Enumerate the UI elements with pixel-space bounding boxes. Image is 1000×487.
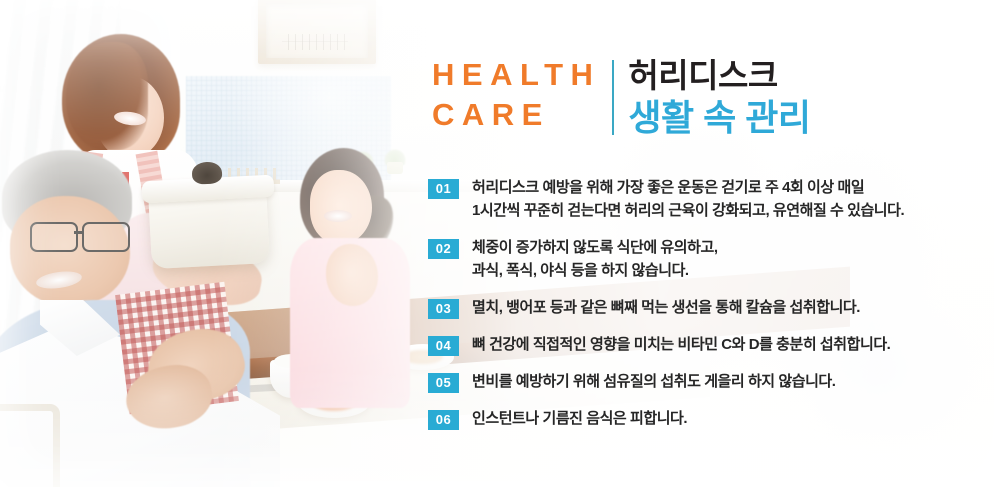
- page-title: HEALTH CARE 허리디스크 생활 속 관리: [432, 55, 811, 139]
- list-item: 04 뼈 건강에 직접적인 영향을 미치는 비타민 C와 D를 충분히 섭취합니…: [428, 333, 973, 356]
- list-item: 05 변비를 예방하기 위해 섬유질의 섭취도 게을리 하지 않습니다.: [428, 370, 973, 393]
- item-number-badge: 01: [428, 179, 459, 199]
- eyebrow-line-1: HEALTH: [432, 55, 600, 95]
- item-text: 체중이 증가하지 않도록 식단에 유의하고, 과식, 폭식, 야식 등을 하지 …: [472, 236, 718, 282]
- list-item: 01 허리디스크 예방을 위해 가장 좋은 운동은 걷기로 주 4회 이상 매일…: [428, 176, 973, 222]
- title-korean: 허리디스크 생활 속 관리: [614, 55, 810, 139]
- item-number-badge: 02: [428, 239, 459, 259]
- list-item: 03 멸치, 뱅어포 등과 같은 뼈째 먹는 생선을 통해 칼슘을 섭취합니다.: [428, 296, 973, 319]
- item-number-badge: 03: [428, 299, 459, 319]
- item-number-badge: 04: [428, 336, 459, 356]
- item-text: 멸치, 뱅어포 등과 같은 뼈째 먹는 생선을 통해 칼슘을 섭취합니다.: [472, 296, 860, 319]
- list-item: 02 체중이 증가하지 않도록 식단에 유의하고, 과식, 폭식, 야식 등을 …: [428, 236, 973, 282]
- content-layer: HEALTH CARE 허리디스크 생활 속 관리 01 허리디스크 예방을 위…: [0, 0, 1000, 487]
- item-text: 변비를 예방하기 위해 섬유질의 섭취도 게을리 하지 않습니다.: [472, 370, 836, 393]
- title-line-2: 생활 속 관리: [628, 97, 810, 139]
- item-text: 뼈 건강에 직접적인 영향을 미치는 비타민 C와 D를 충분히 섭취합니다.: [472, 333, 890, 356]
- healthcare-banner: HEALTH CARE 허리디스크 생활 속 관리 01 허리디스크 예방을 위…: [0, 0, 1000, 487]
- item-number-badge: 05: [428, 373, 459, 393]
- title-line-1: 허리디스크: [628, 55, 810, 97]
- list-item: 06 인스턴트나 기름진 음식은 피합니다.: [428, 407, 973, 430]
- tips-list: 01 허리디스크 예방을 위해 가장 좋은 운동은 걷기로 주 4회 이상 매일…: [428, 176, 973, 444]
- eyebrow-line-2: CARE: [432, 95, 600, 135]
- item-number-badge: 06: [428, 410, 459, 430]
- item-text: 허리디스크 예방을 위해 가장 좋은 운동은 걷기로 주 4회 이상 매일 1시…: [472, 176, 904, 222]
- item-text: 인스턴트나 기름진 음식은 피합니다.: [472, 407, 687, 430]
- eyebrow-healthcare: HEALTH CARE: [432, 55, 612, 135]
